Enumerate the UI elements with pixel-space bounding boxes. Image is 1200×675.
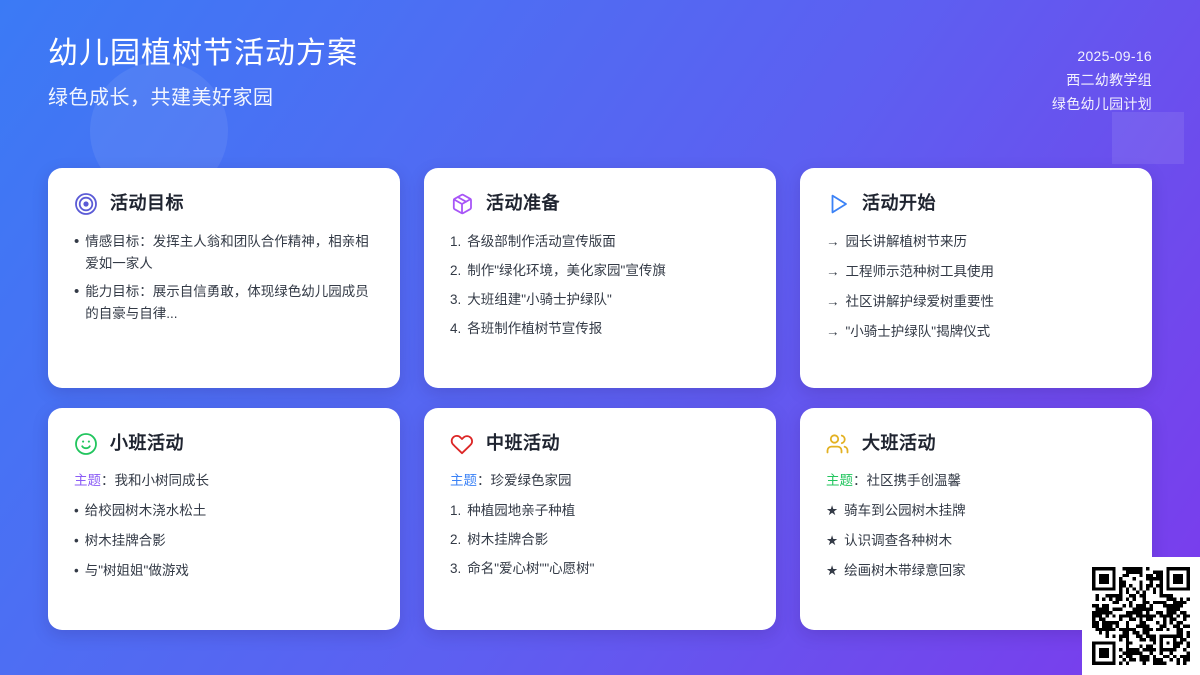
list-item: •能力目标：展示自信勇敢，体现绿色幼儿园成员的自豪与自律... bbox=[74, 281, 374, 325]
list-item-text: 园长讲解植树节来历 bbox=[846, 231, 1127, 253]
card-header: 活动开始 bbox=[826, 192, 1126, 216]
card-header: 小班活动 bbox=[74, 432, 374, 456]
list-item-text: 树木挂牌合影 bbox=[85, 530, 374, 552]
card-junior-class-activity[interactable]: 小班活动主题：我和小树同成长•给校园树木浇水松土•树木挂牌合影•与"树姐姐"做游… bbox=[48, 408, 400, 630]
smiley-icon bbox=[74, 432, 98, 456]
list-marker: → bbox=[826, 321, 840, 343]
list-item-text: 种植园地亲子种植 bbox=[467, 500, 750, 522]
list-item-text: 情感目标：发挥主人翁和团队合作精神，相亲相爱如一家人 bbox=[85, 231, 374, 275]
list-item: →园长讲解植树节来历 bbox=[826, 231, 1126, 253]
list-marker: • bbox=[74, 560, 79, 582]
list-item: ★骑车到公园树木挂牌 bbox=[826, 500, 1126, 522]
slide-header: 幼儿园植树节活动方案 绿色成长，共建美好家园 2025-09-16 西二幼教学组… bbox=[0, 0, 1200, 150]
list-marker: ★ bbox=[826, 560, 838, 582]
list-item: •给校园树木浇水松土 bbox=[74, 500, 374, 522]
theme-value: 珍爱绿色家园 bbox=[491, 473, 572, 488]
list-item: •与"树姐姐"做游戏 bbox=[74, 560, 374, 582]
theme-value: 社区携手创温馨 bbox=[867, 473, 962, 488]
card-list: →园长讲解植树节来历→工程师示范种树工具使用→社区讲解护绿爱树重要性→"小骑士护… bbox=[826, 231, 1126, 342]
list-item: →工程师示范种树工具使用 bbox=[826, 261, 1126, 283]
card-title: 中班活动 bbox=[486, 433, 560, 455]
list-item-text: 工程师示范种树工具使用 bbox=[846, 261, 1127, 283]
list-item: 1.各级部制作活动宣传版面 bbox=[450, 231, 750, 253]
heart-icon bbox=[450, 432, 474, 456]
list-item-text: 骑车到公园树木挂牌 bbox=[844, 500, 1126, 522]
list-marker: 1. bbox=[450, 231, 461, 253]
page-title: 幼儿园植树节活动方案 bbox=[48, 34, 358, 75]
list-item: 4.各班制作植树节宣传报 bbox=[450, 318, 750, 340]
list-marker: ★ bbox=[826, 500, 838, 522]
list-marker: → bbox=[826, 291, 840, 313]
users-icon bbox=[826, 432, 850, 456]
list-item: ★认识调查各种树木 bbox=[826, 530, 1126, 552]
list-item: →"小骑士护绿队"揭牌仪式 bbox=[826, 321, 1126, 343]
box-icon bbox=[450, 192, 474, 216]
card-title: 小班活动 bbox=[110, 433, 184, 455]
card-header: 活动目标 bbox=[74, 192, 374, 216]
list-item-text: 与"树姐姐"做游戏 bbox=[85, 560, 374, 582]
list-item-text: 给校园树木浇水松土 bbox=[85, 500, 374, 522]
list-marker: 2. bbox=[450, 260, 461, 282]
list-item-text: 各班制作植树节宣传报 bbox=[467, 318, 750, 340]
list-marker: 1. bbox=[450, 500, 461, 522]
card-list: 1.各级部制作活动宣传版面2.制作"绿化环境，美化家园"宣传旗3.大班组建"小骑… bbox=[450, 231, 750, 339]
list-marker: 2. bbox=[450, 529, 461, 551]
theme-label: 主题 bbox=[74, 473, 101, 488]
list-marker: 3. bbox=[450, 558, 461, 580]
list-item-text: 认识调查各种树木 bbox=[844, 530, 1126, 552]
list-marker: • bbox=[74, 231, 79, 254]
card-theme: 主题：我和小树同成长 bbox=[74, 471, 374, 491]
card-title: 大班活动 bbox=[862, 433, 936, 455]
list-item: 1.种植园地亲子种植 bbox=[450, 500, 750, 522]
card-title: 活动目标 bbox=[110, 193, 184, 215]
card-activity-goals[interactable]: 活动目标•情感目标：发挥主人翁和团队合作精神，相亲相爱如一家人•能力目标：展示自… bbox=[48, 168, 400, 388]
card-theme: 主题：珍爱绿色家园 bbox=[450, 471, 750, 491]
slide-canvas: 幼儿园植树节活动方案 绿色成长，共建美好家园 2025-09-16 西二幼教学组… bbox=[0, 0, 1200, 675]
list-marker: → bbox=[826, 261, 840, 283]
list-item-text: 树木挂牌合影 bbox=[467, 529, 750, 551]
list-marker: • bbox=[74, 500, 79, 522]
list-item-text: 制作"绿化环境，美化家园"宣传旗 bbox=[467, 260, 750, 282]
header-title-block: 幼儿园植树节活动方案 绿色成长，共建美好家园 bbox=[48, 34, 358, 112]
list-item: 2.制作"绿化环境，美化家园"宣传旗 bbox=[450, 260, 750, 282]
list-item: →社区讲解护绿爱树重要性 bbox=[826, 291, 1126, 313]
card-header: 活动准备 bbox=[450, 192, 750, 216]
card-activity-preparation[interactable]: 活动准备1.各级部制作活动宣传版面2.制作"绿化环境，美化家园"宣传旗3.大班组… bbox=[424, 168, 776, 388]
card-title: 活动准备 bbox=[486, 193, 560, 215]
card-theme: 主题：社区携手创温馨 bbox=[826, 471, 1126, 491]
meta-date: 2025-09-16 bbox=[1052, 44, 1152, 68]
list-marker: ★ bbox=[826, 530, 838, 552]
target-icon bbox=[74, 192, 98, 216]
list-marker: 4. bbox=[450, 318, 461, 340]
list-item: 3.大班组建"小骑士护绿队" bbox=[450, 289, 750, 311]
list-marker: • bbox=[74, 281, 79, 304]
list-item: 2.树木挂牌合影 bbox=[450, 529, 750, 551]
card-list: •情感目标：发挥主人翁和团队合作精神，相亲相爱如一家人•能力目标：展示自信勇敢，… bbox=[74, 231, 374, 324]
list-item: 3.命名"爱心树""心愿树" bbox=[450, 558, 750, 580]
theme-label: 主题 bbox=[826, 473, 853, 488]
theme-separator: ： bbox=[477, 473, 491, 488]
list-marker: • bbox=[74, 530, 79, 552]
list-item-text: 各级部制作活动宣传版面 bbox=[467, 231, 750, 253]
card-header: 大班活动 bbox=[826, 432, 1126, 456]
list-item-text: "小骑士护绿队"揭牌仪式 bbox=[846, 321, 1127, 343]
theme-label: 主题 bbox=[450, 473, 477, 488]
theme-separator: ： bbox=[853, 473, 867, 488]
play-icon bbox=[826, 192, 850, 216]
list-item-text: 大班组建"小骑士护绿队" bbox=[467, 289, 750, 311]
card-activity-start[interactable]: 活动开始→园长讲解植树节来历→工程师示范种树工具使用→社区讲解护绿爱树重要性→"… bbox=[800, 168, 1152, 388]
list-item: ★绘画树木带绿意回家 bbox=[826, 560, 1126, 582]
card-list: 1.种植园地亲子种植2.树木挂牌合影3.命名"爱心树""心愿树" bbox=[450, 500, 750, 580]
card-header: 中班活动 bbox=[450, 432, 750, 456]
qr-code-image bbox=[1092, 567, 1190, 665]
theme-value: 我和小树同成长 bbox=[115, 473, 210, 488]
meta-plan: 绿色幼儿园计划 bbox=[1052, 92, 1152, 116]
meta-organization: 西二幼教学组 bbox=[1052, 68, 1152, 92]
list-item: •树木挂牌合影 bbox=[74, 530, 374, 552]
list-item-text: 命名"爱心树""心愿树" bbox=[467, 558, 750, 580]
list-marker: → bbox=[826, 231, 840, 253]
list-item-text: 社区讲解护绿爱树重要性 bbox=[846, 291, 1127, 313]
list-item: •情感目标：发挥主人翁和团队合作精神，相亲相爱如一家人 bbox=[74, 231, 374, 275]
list-item-text: 能力目标：展示自信勇敢，体现绿色幼儿园成员的自豪与自律... bbox=[85, 281, 374, 325]
card-middle-class-activity[interactable]: 中班活动主题：珍爱绿色家园1.种植园地亲子种植2.树木挂牌合影3.命名"爱心树"… bbox=[424, 408, 776, 630]
cards-grid: 活动目标•情感目标：发挥主人翁和团队合作精神，相亲相爱如一家人•能力目标：展示自… bbox=[48, 168, 1152, 630]
theme-separator: ： bbox=[101, 473, 115, 488]
page-subtitle: 绿色成长，共建美好家园 bbox=[48, 85, 358, 112]
card-title: 活动开始 bbox=[862, 193, 936, 215]
card-list: ★骑车到公园树木挂牌★认识调查各种树木★绘画树木带绿意回家 bbox=[826, 500, 1126, 582]
qr-code[interactable] bbox=[1082, 557, 1200, 675]
card-list: •给校园树木浇水松土•树木挂牌合影•与"树姐姐"做游戏 bbox=[74, 500, 374, 582]
list-marker: 3. bbox=[450, 289, 461, 311]
header-meta-block: 2025-09-16 西二幼教学组 绿色幼儿园计划 bbox=[1052, 34, 1152, 116]
